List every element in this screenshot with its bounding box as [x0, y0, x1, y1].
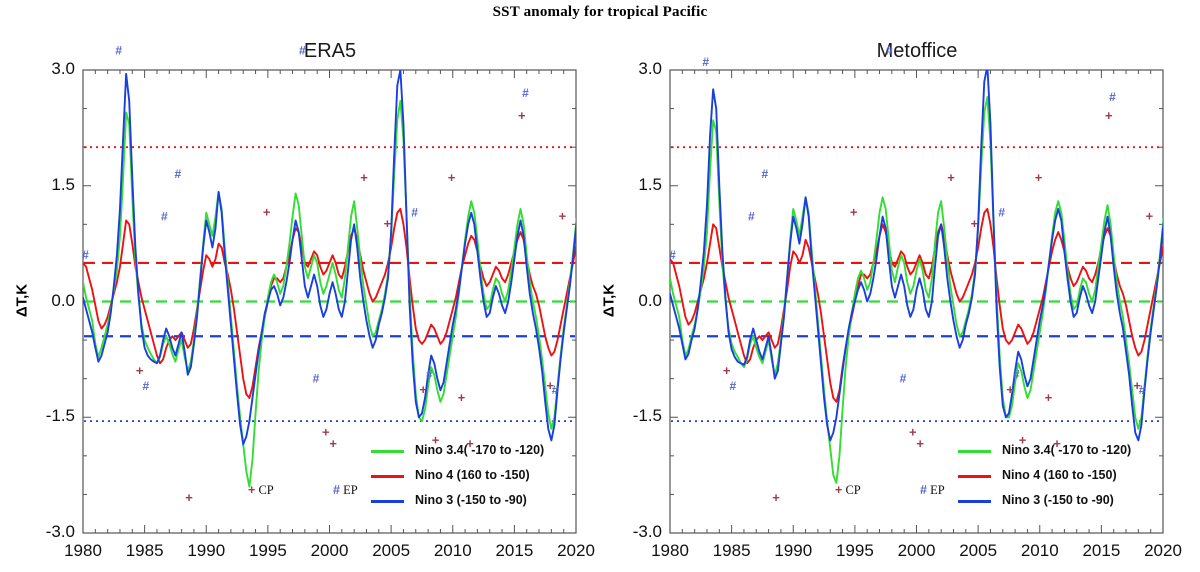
event-marker-ep: # [702, 55, 709, 69]
marker-key-ep: # EP [920, 483, 945, 498]
ep-label: EP [930, 483, 945, 497]
x-tick-label: 1980 [640, 541, 700, 561]
event-marker-cp: + [1006, 382, 1014, 397]
event-marker-ep: # [886, 44, 893, 58]
event-marker-cp: + [1105, 108, 1113, 123]
x-tick-label: 2000 [887, 541, 947, 561]
event-marker-cp: + [723, 363, 731, 378]
event-marker-cp: + [916, 436, 924, 451]
event-marker-ep: # [1139, 383, 1146, 397]
cp-label: CP [845, 483, 860, 497]
x-tick-label: 1995 [825, 541, 885, 561]
x-tick-label: 1990 [763, 541, 823, 561]
event-marker-cp: + [850, 205, 858, 220]
event-marker-cp: + [947, 170, 955, 185]
legend-swatch [958, 450, 991, 453]
event-marker-ep: # [1109, 90, 1116, 104]
legend-swatch [958, 500, 991, 503]
event-marker-ep: # [998, 206, 1005, 220]
x-tick-label: 2005 [948, 541, 1008, 561]
x-tick-label: 2010 [1010, 541, 1070, 561]
cp-symbol-icon: + [835, 483, 842, 497]
event-marker-ep: # [900, 372, 907, 386]
event-marker-ep: # [730, 379, 737, 393]
event-marker-cp: + [1045, 390, 1053, 405]
event-marker-cp: + [1146, 208, 1154, 223]
x-tick-label: 2020 [1133, 541, 1193, 561]
y-tick-label: -3.0 [608, 522, 662, 542]
event-marker-ep: # [748, 209, 755, 223]
x-tick-label: 2015 [1071, 541, 1131, 561]
plot-area-right: ##+###++##++++#+#+++++#+#+ [0, 0, 1200, 572]
legend-label: Nino 3.4( -170 to -120) [1002, 443, 1131, 457]
event-marker-cp: + [971, 216, 979, 231]
ep-symbol-icon: # [920, 483, 927, 497]
x-tick-label: 1985 [702, 541, 762, 561]
event-marker-cp: + [1035, 170, 1043, 185]
legend-swatch [958, 475, 991, 478]
event-marker-cp: + [772, 490, 780, 505]
chart-panel-right: MetofficeΔT,K##+###++##++++#+#+++++#+#+3… [0, 0, 1200, 572]
y-tick-label: 0.0 [608, 291, 662, 311]
y-tick-label: -1.5 [608, 406, 662, 426]
marker-key-cp: + CP [835, 483, 861, 498]
y-tick-label: 1.5 [608, 175, 662, 195]
y-tick-label: 3.0 [608, 59, 662, 79]
legend-label: Nino 4 (160 to -150) [1002, 468, 1117, 482]
legend-label: Nino 3 (-150 to -90) [1002, 493, 1114, 507]
event-marker-ep: # [762, 167, 769, 181]
event-marker-ep: # [1013, 368, 1020, 382]
event-marker-ep: # [669, 248, 676, 262]
